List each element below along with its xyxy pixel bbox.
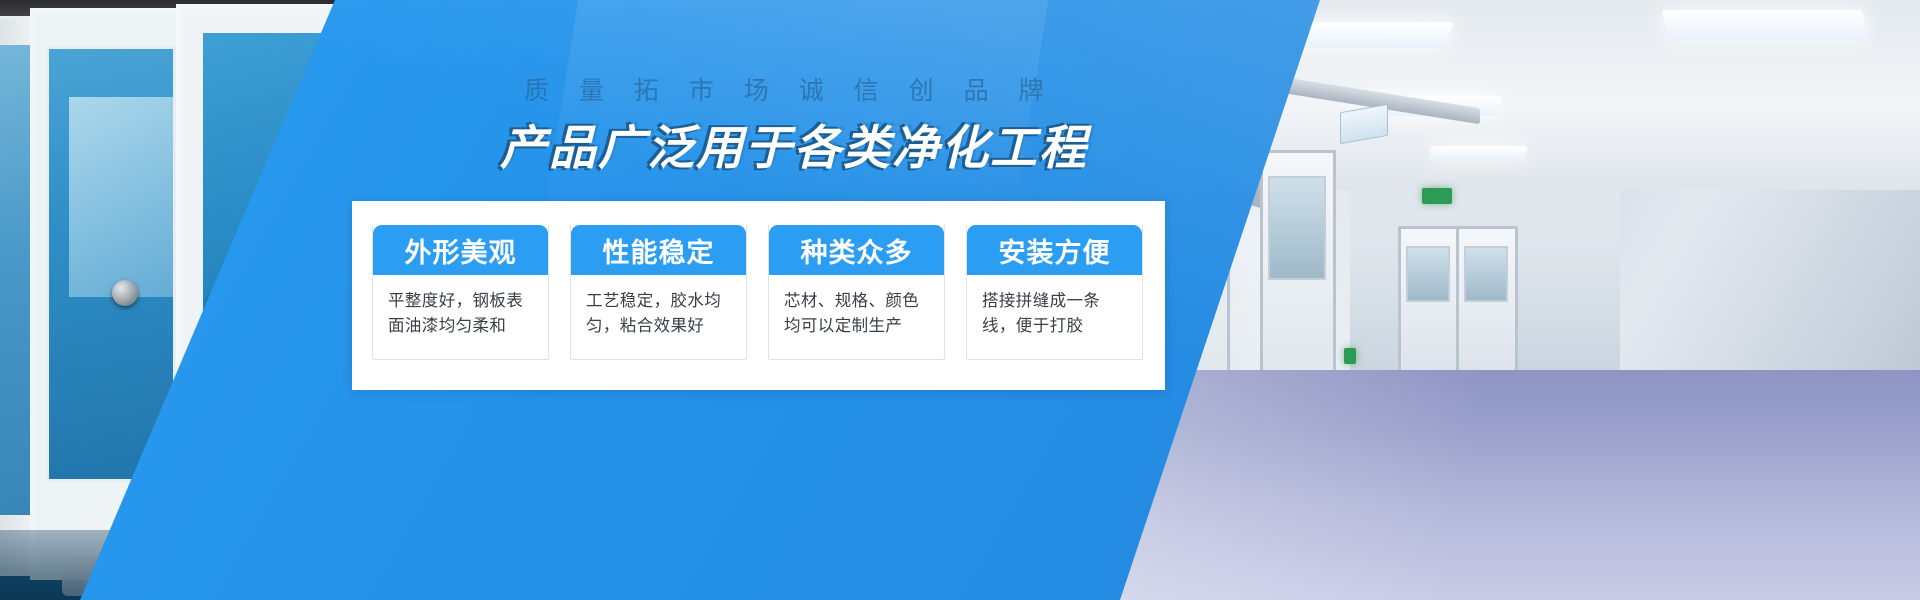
feature-box-2-description: 工艺稳定，胶水均匀，粘合效果好 xyxy=(571,275,746,359)
wall-marker-icon xyxy=(1344,348,1356,364)
corridor-door-center-a-window xyxy=(1406,246,1450,302)
promo-banner: 质 量 拓 市 场 诚 信 创 品 牌 产品广泛用于各类净化工程 外形美观 平整… xyxy=(0,0,1920,600)
corridor-door-center-b-window xyxy=(1464,246,1508,302)
cabin-b-lock-icon xyxy=(112,280,138,306)
emergency-exit-sign-icon xyxy=(1422,188,1452,204)
feature-box-3-title: 种类众多 xyxy=(769,225,944,275)
feature-box-2[interactable]: 性能稳定 工艺稳定，胶水均匀，粘合效果好 xyxy=(570,225,747,360)
banner-subtitle: 质 量 拓 市 场 诚 信 创 品 牌 xyxy=(524,74,1084,108)
feature-box-2-title: 性能稳定 xyxy=(571,225,746,275)
cabin-b-window xyxy=(69,97,173,297)
feature-box-3-description: 芯材、规格、颜色均可以定制生产 xyxy=(769,275,944,359)
corridor-door-left-far-window xyxy=(1268,176,1326,280)
corridor-floor xyxy=(1100,370,1920,600)
features-list: 外形美观 平整度好，钢板表面油漆均匀柔和 性能稳定 工艺稳定，胶水均匀，粘合效果… xyxy=(372,225,1143,360)
banner-headline: 产品广泛用于各类净化工程 xyxy=(500,118,1120,180)
feature-box-4[interactable]: 安装方便 搭接拼缝成一条线，便于打胶 xyxy=(966,225,1143,360)
feature-box-1-description: 平整度好，钢板表面油漆均匀柔和 xyxy=(373,275,548,359)
feature-box-3[interactable]: 种类众多 芯材、规格、颜色均可以定制生产 xyxy=(768,225,945,360)
feature-box-4-title: 安装方便 xyxy=(967,225,1142,275)
feature-box-4-description: 搭接拼缝成一条线，便于打胶 xyxy=(967,275,1142,359)
cabin-b-door xyxy=(46,46,176,482)
feature-box-1-title: 外形美观 xyxy=(373,225,548,275)
ceiling-light-3 xyxy=(1429,146,1527,160)
ceiling-light-4 xyxy=(1662,10,1868,40)
feature-box-1[interactable]: 外形美观 平整度好，钢板表面油漆均匀柔和 xyxy=(372,225,549,360)
